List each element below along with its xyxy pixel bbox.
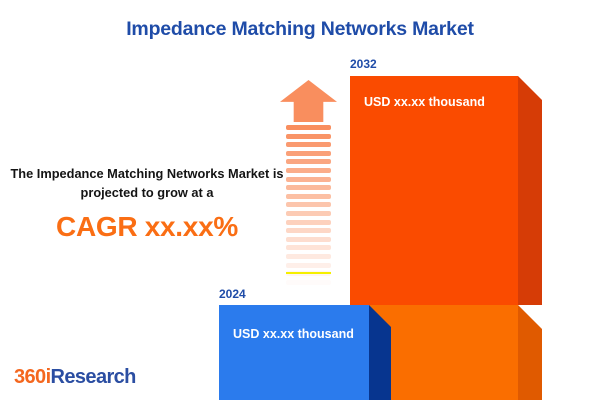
cagr-value-text: CAGR xx.xx% [8, 211, 286, 243]
bar-value-2024: USD xx.xx thousand [233, 327, 354, 341]
arrow-bar-segment [286, 228, 331, 233]
arrow-accent-line [286, 272, 331, 274]
bar-2032-side-upper [518, 76, 542, 305]
arrow-bar-segment [286, 202, 331, 207]
arrow-gradient-bars [286, 125, 331, 288]
bar-2024-front [219, 305, 369, 400]
arrow-bar-segment [286, 237, 331, 242]
logo-prefix: 360i [14, 366, 51, 388]
arrow-bar-segment [286, 245, 331, 250]
arrow-bar-segment [286, 194, 331, 199]
arrow-bar-segment [286, 220, 331, 225]
cagr-lead-text: The Impedance Matching Networks Market i… [8, 165, 286, 202]
market-infographic: Impedance Matching Networks Market 2032 … [0, 0, 600, 400]
bar-2032-front-upper [350, 76, 518, 305]
arrow-bar-segment [286, 168, 331, 173]
bar-2032-side-lower [518, 305, 542, 400]
bar-label-2024: 2024 [219, 287, 246, 301]
arrow-bar-segment [286, 125, 331, 130]
growth-arrow-icon [280, 80, 337, 285]
cagr-callout: The Impedance Matching Networks Market i… [8, 165, 286, 243]
arrow-bar-segment [286, 151, 331, 156]
bar-value-2032: USD xx.xx thousand [364, 95, 485, 109]
bar-2024-side [369, 305, 391, 400]
bar-label-2032: 2032 [350, 57, 377, 71]
arrow-bar-segment [286, 142, 331, 147]
arrow-bar-segment [286, 254, 331, 259]
page-title: Impedance Matching Networks Market [0, 18, 600, 41]
arrow-bar-segment [286, 134, 331, 139]
arrow-bar-segment [286, 159, 331, 164]
bar-2024 [219, 305, 414, 400]
arrow-head-icon [280, 80, 337, 122]
arrow-bar-segment [286, 185, 331, 190]
logo-suffix: Research [51, 366, 136, 388]
arrow-bar-segment [286, 211, 331, 216]
brand-logo: 360iResearch [14, 366, 136, 389]
arrow-bar-segment [286, 177, 331, 182]
arrow-bar-segment [286, 263, 331, 268]
arrow-bar-segment [286, 280, 331, 285]
